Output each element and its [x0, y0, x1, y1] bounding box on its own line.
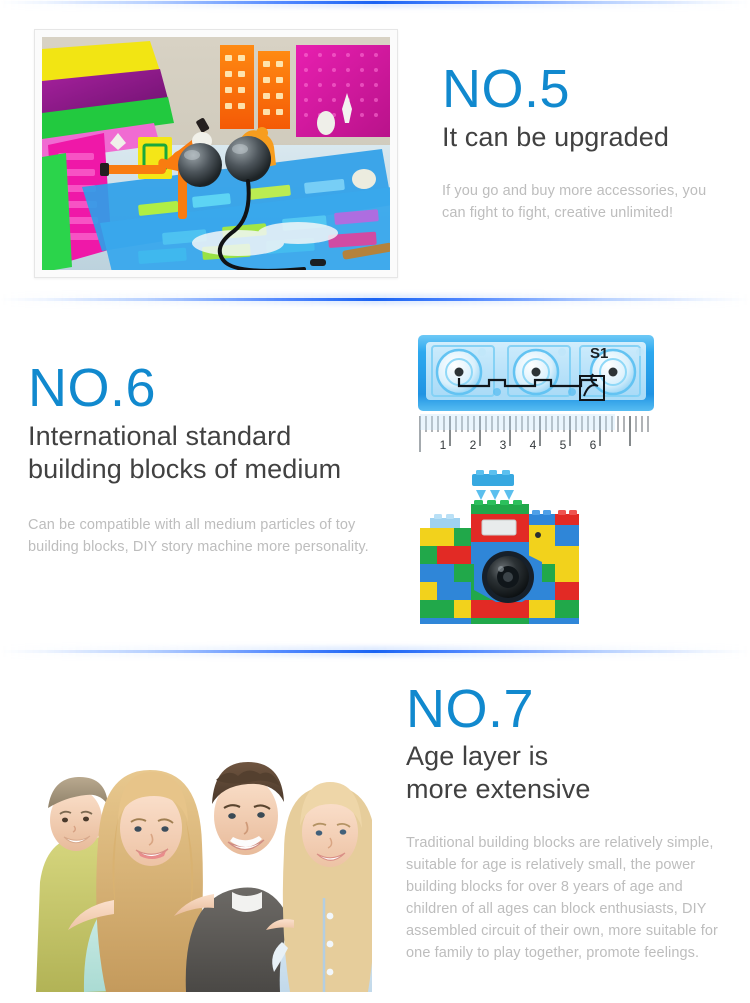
product-feature-page: NO.5 It can be upgraded If you go and bu… — [0, 0, 750, 1003]
block-marking-label: S1 — [590, 345, 608, 362]
happy-family-of-four-photo — [18, 692, 388, 992]
section-number-label-no-5: NO.5 — [442, 62, 732, 117]
section-number-label-no-6: NO.6 — [28, 361, 403, 416]
assembly-arrows-icon — [476, 490, 514, 500]
section-no-7: NO.7 Age layer is more extensive Traditi… — [0, 652, 750, 1003]
block-and-camera-illustration: S1 — [412, 328, 667, 624]
section-headline-no-6: International standard building blocks o… — [28, 420, 398, 486]
section-body-no-7: Traditional building blocks are relative… — [406, 832, 726, 964]
section-body-no-5: If you go and buy more accessories, you … — [442, 180, 727, 224]
headline-line-1: Age layer is — [406, 740, 736, 773]
text-block-no-6: NO.6 International standard building blo… — [28, 361, 403, 558]
headline-line-2: more extensive — [406, 773, 736, 806]
section-body-no-6: Can be compatible with all medium partic… — [28, 514, 400, 558]
ruler-tick-6: 6 — [590, 438, 597, 452]
colorful-building-blocks-city-photo — [42, 37, 390, 270]
section-no-6: NO.6 International standard building blo… — [0, 300, 750, 650]
ruler-tick-3: 3 — [500, 438, 507, 452]
blue-transparent-circuit-block: S1 — [418, 335, 654, 411]
framed-photo-blocks-city — [34, 29, 398, 278]
ruler-tick-5: 5 — [560, 438, 567, 452]
section-no-5: NO.5 It can be upgraded If you go and bu… — [0, 0, 750, 298]
headline-line-2: building blocks of medium — [28, 453, 398, 486]
ruler-tick-1: 1 — [440, 438, 447, 452]
section-headline-no-5: It can be upgraded — [442, 121, 732, 154]
text-block-no-5: NO.5 It can be upgraded If you go and bu… — [442, 62, 732, 224]
headline-line-1: International standard — [28, 420, 398, 453]
family-illustration — [18, 692, 388, 992]
blue-circuit-block-with-ruler-and-lego-camera: S1 — [412, 328, 667, 624]
blocks-city-illustration — [42, 37, 390, 270]
floating-blue-brick — [472, 470, 514, 486]
text-block-no-7: NO.7 Age layer is more extensive Traditi… — [406, 682, 736, 964]
ruler: 1 2 3 4 5 6 — [418, 413, 654, 455]
ruler-tick-2: 2 — [470, 438, 477, 452]
section-number-label-no-7: NO.7 — [406, 682, 736, 737]
section-headline-no-7: Age layer is more extensive — [406, 740, 736, 806]
ruler-tick-4: 4 — [530, 438, 537, 452]
